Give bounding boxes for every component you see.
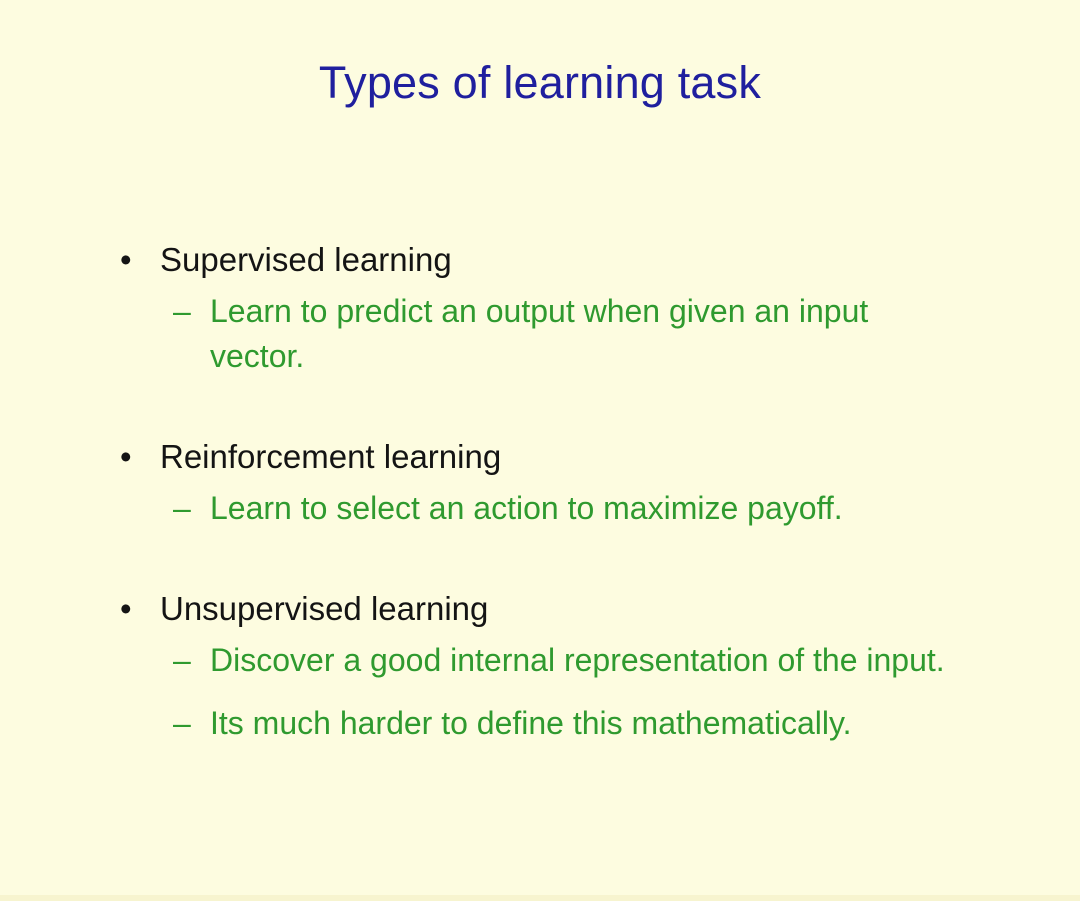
sub-bullet-label: Its much harder to define this mathemati…	[210, 705, 851, 741]
sub-bullet-label: Discover a good internal representation …	[210, 642, 945, 678]
dash-bullet-icon: –	[173, 486, 199, 531]
section-supervised-learning: • Supervised learning – Learn to predict…	[0, 240, 1080, 379]
bullet-label: Supervised learning	[160, 241, 452, 278]
sub-bullet-unsupervised-2: – Its much harder to define this mathema…	[0, 701, 1080, 746]
sub-bullet-label: Learn to predict an output when given an…	[210, 293, 868, 374]
bullet-label: Unsupervised learning	[160, 590, 488, 627]
slide-title: Types of learning task	[0, 58, 1080, 108]
section-reinforcement-learning: • Reinforcement learning – Learn to sele…	[0, 437, 1080, 531]
bullet-dot-icon: •	[120, 589, 140, 629]
dash-bullet-icon: –	[173, 701, 199, 746]
presentation-slide: Types of learning task • Supervised lear…	[0, 0, 1080, 901]
sub-bullet-label: Learn to select an action to maximize pa…	[210, 490, 843, 526]
dash-bullet-icon: –	[173, 638, 199, 683]
sub-bullet-supervised-1: – Learn to predict an output when given …	[0, 289, 1080, 379]
bullet-dot-icon: •	[120, 240, 140, 280]
bullet-unsupervised-learning: • Unsupervised learning	[0, 589, 1080, 629]
bullet-dot-icon: •	[120, 437, 140, 477]
dash-bullet-icon: –	[173, 289, 199, 334]
section-unsupervised-learning: • Unsupervised learning – Discover a goo…	[0, 589, 1080, 746]
slide-bottom-edge	[0, 895, 1080, 901]
bullet-reinforcement-learning: • Reinforcement learning	[0, 437, 1080, 477]
sub-bullet-reinforcement-1: – Learn to select an action to maximize …	[0, 486, 1080, 531]
bullet-supervised-learning: • Supervised learning	[0, 240, 1080, 280]
slide-body: • Supervised learning – Learn to predict…	[0, 240, 1080, 746]
sub-bullet-unsupervised-1: – Discover a good internal representatio…	[0, 638, 1080, 683]
bullet-label: Reinforcement learning	[160, 438, 501, 475]
